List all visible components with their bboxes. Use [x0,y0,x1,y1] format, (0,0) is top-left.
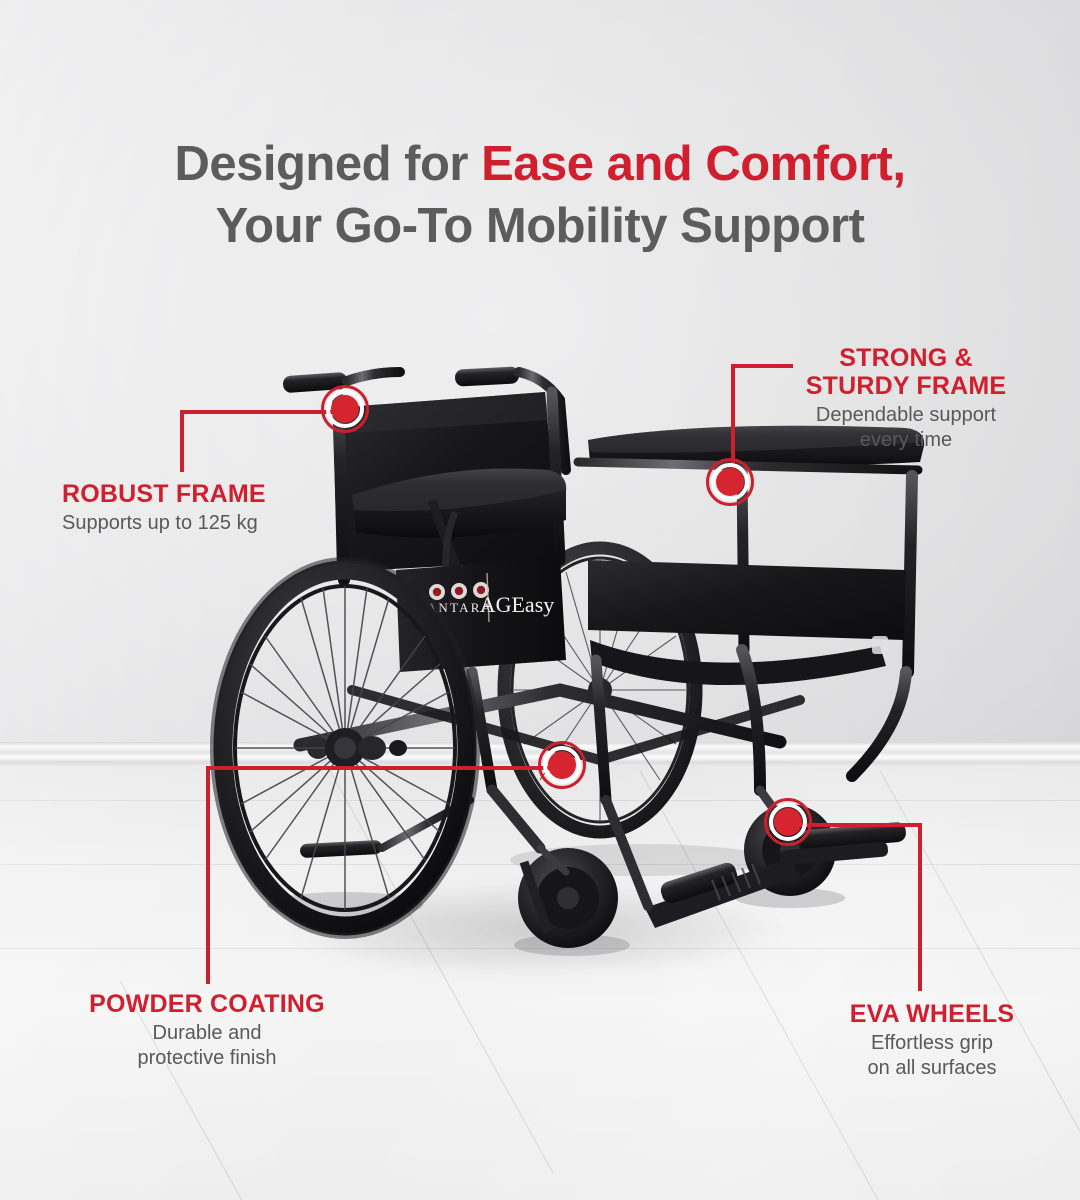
callout-subtitle-powder-coating-line2: protective finish [66,1046,348,1071]
leader-line-powder-coating-v [206,766,210,984]
callout-subtitle-sturdy-frame-line2: every time [776,428,1036,453]
hotspot-marker-sturdy-frame[interactable] [706,458,760,512]
callout-subtitle-powder-coating-line1: Durable and [66,1021,348,1046]
callout-subtitle-robust-frame: Supports up to 125 kg [62,511,342,536]
callout-robust-frame: ROBUST FRAME Supports up to 125 kg [62,480,342,536]
hotspot-marker-robust-frame[interactable] [321,385,375,439]
leader-line-eva-wheels-v [918,823,922,991]
hotspot-marker-eva-wheels[interactable] [764,798,818,852]
callout-title-powder-coating: POWDER COATING [66,990,348,1018]
callout-title-robust-frame: ROBUST FRAME [62,480,342,508]
callout-powder-coating: POWDER COATING Durable and protective fi… [66,990,348,1071]
leader-line-powder-coating-h [206,766,566,770]
marker-dot [716,468,744,496]
callout-subtitle-eva-wheels-line2: on all surfaces [808,1056,1056,1081]
callout-title-eva-wheels: EVA WHEELS [808,1000,1056,1028]
callout-title-sturdy-frame-line1: STRONG & [776,344,1036,372]
callout-subtitle-eva-wheels-line1: Effortless grip [808,1031,1056,1056]
marker-dot [331,395,359,423]
leader-line-robust-frame-v [180,410,184,472]
rear-wheel-left [213,560,477,936]
svg-text:AGEasy: AGEasy [480,592,555,617]
callout-title-sturdy-frame-line2: STURDY FRAME [776,372,1036,400]
marker-dot [774,808,802,836]
callout-eva-wheels: EVA WHEELS Effortless grip on all surfac… [808,1000,1056,1081]
infographic-canvas: Designed for Ease and Comfort, Your Go-T… [0,0,1080,1200]
marker-dot [548,751,576,779]
hotspot-marker-powder-coating[interactable] [538,741,592,795]
callout-subtitle-sturdy-frame-line1: Dependable support [776,403,1036,428]
callout-sturdy-frame: STRONG & STURDY FRAME Dependable support… [776,344,1036,453]
